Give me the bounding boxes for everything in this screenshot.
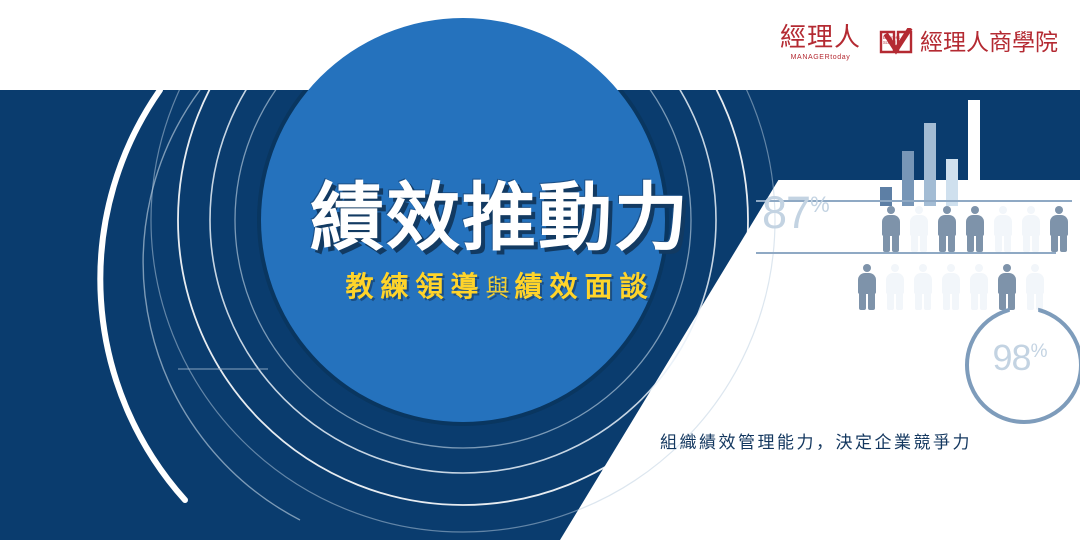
stat-98-percent: 98% — [965, 340, 1075, 376]
person-icon — [942, 264, 960, 310]
subtitle-part-1: 教練領導 — [345, 271, 485, 302]
poster-canvas: 績效推動力 教練領導與績效面談 87% 98% 經理人 MANAGERtoday — [0, 0, 1080, 540]
people-row-bottom — [858, 264, 1044, 310]
subtitle-conjunction: 與 — [486, 275, 515, 302]
rule-below-stat — [756, 252, 1056, 254]
stat-87-unit: % — [810, 192, 830, 217]
people-row-top — [882, 206, 1068, 252]
person-icon — [886, 264, 904, 310]
bar-chart — [880, 100, 1010, 206]
stat-87-percent: 87% — [762, 190, 830, 235]
person-icon — [858, 264, 876, 310]
stat-87-value: 87 — [762, 187, 810, 238]
subtitle-part-2: 績效面談 — [515, 271, 655, 302]
person-icon — [1050, 206, 1068, 252]
logo-business-school[interactable]: Business School 經理人商學院 — [879, 28, 1058, 58]
svg-text:School: School — [883, 40, 896, 45]
person-icon — [998, 264, 1016, 310]
bar-5 — [968, 100, 980, 206]
person-icon — [1026, 264, 1044, 310]
bar-3 — [924, 123, 936, 206]
subtitle: 教練領導與績效面談 — [240, 265, 760, 305]
main-title: 績效推動力 — [240, 180, 760, 255]
person-icon — [910, 206, 928, 252]
stat-98-value: 98 — [993, 337, 1031, 378]
person-icon — [994, 206, 1012, 252]
logo-manager-today[interactable]: 經理人 MANAGERtoday — [780, 24, 861, 61]
logo-business-school-cn: 經理人商學院 — [920, 31, 1058, 54]
open-book-check-icon: Business School — [879, 28, 913, 58]
tagline: 組織績效管理能力，決定企業競爭力 — [660, 428, 972, 453]
person-icon — [966, 206, 984, 252]
bar-1 — [880, 187, 892, 206]
stat-98-unit: % — [1031, 341, 1048, 362]
person-icon — [1022, 206, 1040, 252]
person-icon — [882, 206, 900, 252]
logo-manager-today-en: MANAGERtoday — [791, 54, 851, 61]
logo-manager-today-cn: 經理人 — [780, 24, 861, 50]
person-icon — [914, 264, 932, 310]
hero-text-block: 績效推動力 教練領導與績效面談 — [240, 180, 760, 305]
bar-4 — [946, 159, 958, 206]
infographic-cluster: 87% 98% — [740, 96, 1080, 426]
person-icon — [938, 206, 956, 252]
bar-2 — [902, 151, 914, 206]
person-icon — [970, 264, 988, 310]
logo-group: 經理人 MANAGERtoday Business School 經理人商學院 — [780, 24, 1058, 61]
